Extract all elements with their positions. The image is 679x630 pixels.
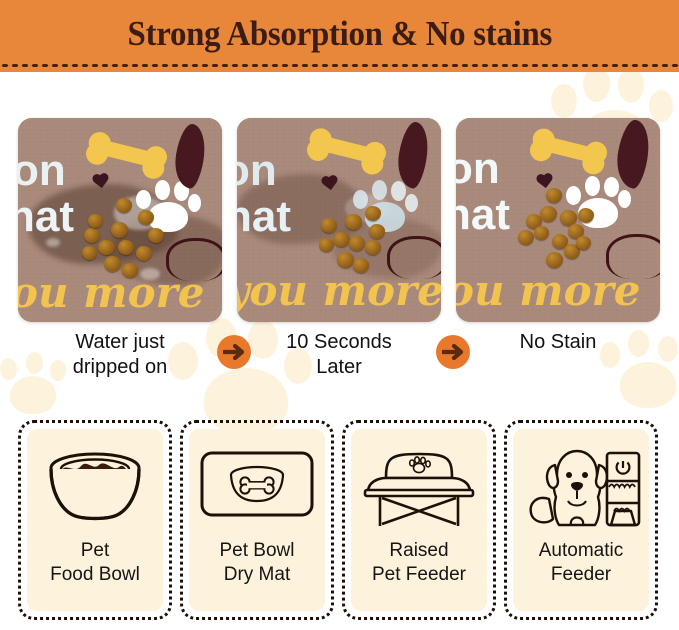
card-label-line: Pet — [50, 539, 140, 563]
card-inner: Pet Food Bowl — [27, 429, 163, 611]
card-label-line: Automatic — [539, 539, 623, 563]
demo-captions: Water just dripped on 10 Seconds Later N… — [0, 330, 679, 392]
caption-line: No Stain — [456, 330, 660, 355]
mat-text-mid: hat — [456, 190, 510, 240]
card-label-line: Pet Bowl — [220, 539, 295, 563]
demo-photo-ten-seconds: on hat you more — [237, 118, 441, 322]
pet-bowl-dry-mat-icon — [199, 435, 315, 535]
mat-text-bottom: ou more — [18, 268, 204, 317]
card-inner: Pet Bowl Dry Mat — [189, 429, 325, 611]
demo-photo-no-stain: on hat ou more — [456, 118, 660, 322]
heart-graphic — [91, 173, 111, 191]
automatic-feeder-icon — [521, 435, 641, 535]
card-label: Automatic Feeder — [539, 539, 623, 587]
use-case-card-pet-bowl-dry-mat[interactable]: Pet Bowl Dry Mat — [180, 420, 334, 620]
card-inner: Automatic Feeder — [513, 429, 649, 611]
caption-line: Water just — [18, 330, 222, 355]
card-label-line: Food Bowl — [50, 563, 140, 587]
mat-text-mid: hat — [18, 192, 74, 242]
mat-text-bottom: ou more — [456, 266, 640, 315]
card-label-line: Raised — [372, 539, 466, 563]
card-inner: Raised Pet Feeder — [351, 429, 487, 611]
mat-text-top: on — [18, 146, 66, 196]
caption-ten-seconds: 10 Seconds Later — [237, 330, 441, 380]
pet-food-bowl-icon — [39, 435, 151, 535]
header-dotted-divider — [0, 63, 679, 68]
demo-photo-water-dripped: on hat ou more — [18, 118, 222, 322]
absorption-demo-row: on hat ou more — [0, 118, 679, 323]
caption-water-dripped: Water just dripped on — [18, 330, 222, 380]
use-case-card-automatic-feeder[interactable]: Automatic Feeder — [504, 420, 658, 620]
page-title: Strong Absorption & No stains — [127, 14, 551, 54]
infographic-page: Strong Absorption & No stains — [0, 0, 679, 630]
card-label: Pet Food Bowl — [50, 539, 140, 587]
mat-text-top: on — [237, 146, 277, 196]
caption-line: 10 Seconds — [237, 330, 441, 355]
card-label: Raised Pet Feeder — [372, 539, 466, 587]
mat-text-bottom: you more — [237, 266, 441, 315]
card-label-line: Feeder — [539, 563, 623, 587]
use-case-card-raised-pet-feeder[interactable]: Raised Pet Feeder — [342, 420, 496, 620]
use-case-card-pet-food-bowl[interactable]: Pet Food Bowl — [18, 420, 172, 620]
paw-print-graphic — [136, 180, 198, 238]
card-label: Pet Bowl Dry Mat — [220, 539, 295, 587]
heart-graphic — [320, 175, 340, 193]
caption-no-stain: No Stain — [456, 330, 660, 355]
raised-pet-feeder-icon — [360, 435, 478, 535]
card-label-line: Pet Feeder — [372, 563, 466, 587]
caption-line: Later — [237, 355, 441, 380]
card-label-line: Dry Mat — [220, 563, 295, 587]
mat-text-mid: hat — [237, 192, 291, 242]
use-case-cards: Pet Food Bowl — [0, 420, 679, 622]
mat-text-top: on — [456, 144, 500, 194]
header-banner: Strong Absorption & No stains — [0, 0, 679, 72]
caption-line: dripped on — [18, 355, 222, 380]
